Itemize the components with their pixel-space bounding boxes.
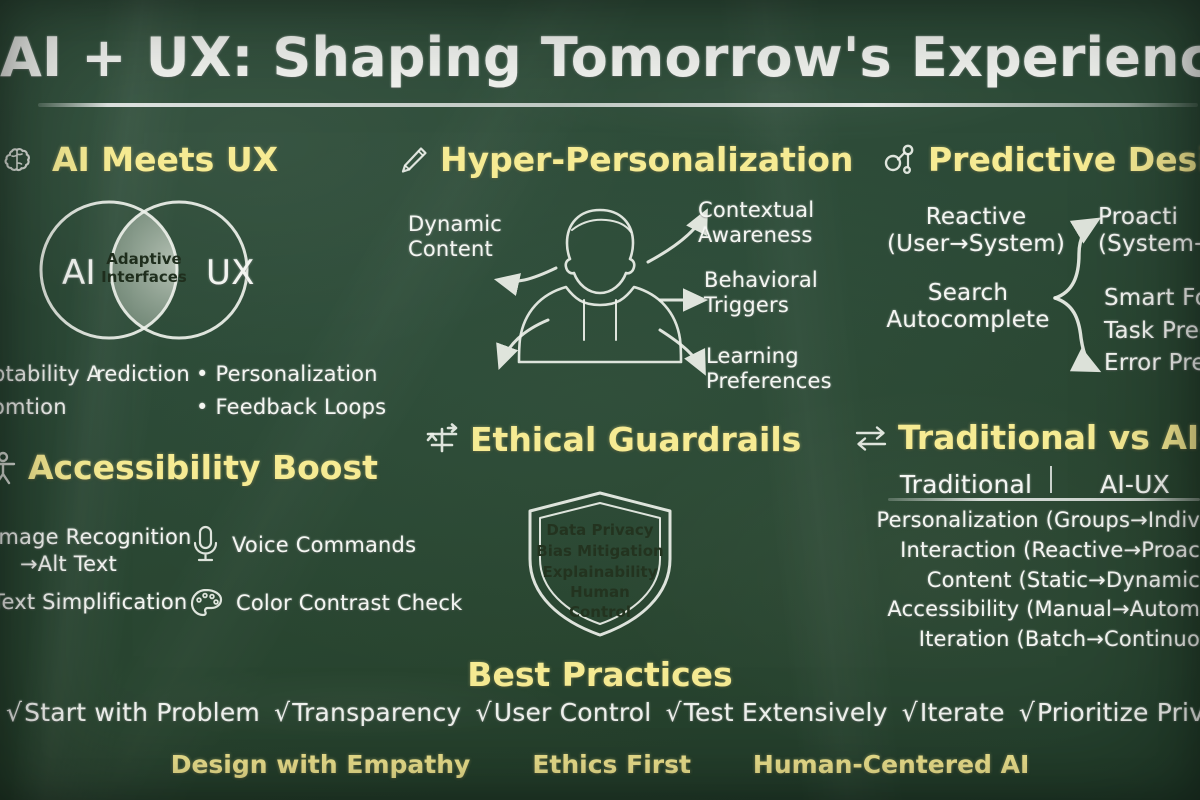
bullet-item: • Feedback Loops <box>196 391 386 424</box>
section-heading-best-practices: Best Practices <box>0 655 1200 694</box>
best-practices-checklist: √Start with Problem √Transparency √User … <box>0 698 1200 727</box>
table-row: Interaction (Reactive→Proac <box>0 536 1200 566</box>
check-icon: √ <box>666 698 682 727</box>
label-dynamic-content: Dynamic Content <box>408 212 502 262</box>
table-row: Personalization (Groups→Indiv <box>0 506 1200 536</box>
venn-diagram: AI UX Adaptive Interfaces <box>14 190 294 350</box>
bullet-item: ptability A <box>0 358 101 391</box>
label-learning-preferences: Learning Preferences <box>706 344 832 394</box>
tag-item: Ethics First <box>532 750 691 779</box>
comparison-table-rule <box>888 498 1200 501</box>
section-title-text: Hyper-Personalization <box>440 140 853 179</box>
label-contextual-awareness: Contextual Awareness <box>698 198 814 248</box>
ai-bullets-mid: rediction <box>96 358 190 391</box>
section-heading-ai-meets-ux: AI Meets UX <box>4 140 278 179</box>
column-header-traditional: Traditional <box>890 470 1042 499</box>
label-line: Awareness <box>698 223 814 248</box>
label-line: Dynamic <box>408 212 502 237</box>
label-line: Behavioral <box>704 268 818 293</box>
best-practices-tags: Design with Empathy Ethics First Human-C… <box>0 750 1200 779</box>
chalkboard-infographic: AI + UX: Shaping Tomorrow's Experiences … <box>0 0 1200 800</box>
section-heading-traditional-vs-ai-ux: Traditional vs AI- <box>854 418 1200 457</box>
predictive-search-autocomplete: Search Autocomplete <box>878 280 1058 334</box>
label-line: Content <box>408 237 502 262</box>
bullet-item: omtion <box>0 391 101 424</box>
section-heading-ethical-guardrails: Ethical Guardrails <box>424 420 801 459</box>
section-title-text: Accessibility Boost <box>28 448 378 487</box>
check-icon: √ <box>6 698 22 727</box>
label-line: Autocomplete <box>878 307 1058 334</box>
label-line: Preferences <box>706 369 832 394</box>
label-line: (System→ <box>1098 231 1200 258</box>
label-line: (User→System) <box>886 231 1066 258</box>
best-practice-item: Start with Problem <box>24 698 260 727</box>
brain-icon <box>4 143 42 177</box>
accessibility-icon <box>0 451 18 485</box>
column-divider <box>1050 466 1052 493</box>
arrow-reactive-to-error-prevention <box>1055 298 1097 370</box>
label-line: Search <box>878 280 1058 307</box>
section-heading-predictive-design: Predictive Desig <box>884 140 1200 179</box>
best-practice-item: Transparency <box>292 698 461 727</box>
best-practice-item: User Control <box>494 698 652 727</box>
page-title: AI + UX: Shaping Tomorrow's Experiences <box>0 26 1200 89</box>
balance-scale-icon <box>424 423 460 457</box>
title-underline <box>38 103 1198 107</box>
label-line: Error Prev <box>1104 347 1200 380</box>
label-line: Learning <box>706 344 832 369</box>
arrow-to-dynamic-content <box>498 268 556 282</box>
predictive-proactive: Proacti (System→ <box>1098 204 1200 258</box>
check-icon: √ <box>902 698 918 727</box>
bullet-item: • Personalization <box>196 358 386 391</box>
predictive-reactive: Reactive (User→System) <box>886 204 1066 258</box>
best-practice-item: Iterate <box>920 698 1005 727</box>
label-line: Triggers <box>704 293 818 318</box>
table-row: Iteration (Batch→Continuo <box>0 625 1200 655</box>
label-behavioral-triggers: Behavioral Triggers <box>704 268 818 318</box>
section-title-text: Predictive Desig <box>928 140 1200 179</box>
ai-bullets-right: • Personalization • Feedback Loops <box>196 358 386 423</box>
table-row: Content (Static→Dynamic <box>0 566 1200 596</box>
arrow-to-learning-preferences-2 <box>660 330 704 372</box>
predictive-right-items: Smart Fo Task Predi Error Prev <box>1104 282 1200 380</box>
column-header-ai-ux: AI-UX <box>1060 470 1200 499</box>
venn-overlap-line2: Interfaces <box>101 268 187 286</box>
section-heading-hyper-personalization: Hyper-Personalization <box>398 140 853 179</box>
venn-label-ai: AI <box>62 253 96 293</box>
check-icon: √ <box>476 698 492 727</box>
bullet-item: rediction <box>96 358 190 391</box>
section-heading-accessibility-boost: Accessibility Boost <box>0 448 378 487</box>
ai-bullets-left: ptability A omtion <box>0 358 101 423</box>
table-row: Accessibility (Manual→Autom <box>0 595 1200 625</box>
tag-item: Design with Empathy <box>171 750 471 779</box>
tag-item: Human-Centered AI <box>753 750 1029 779</box>
exchange-arrows-icon <box>854 423 888 453</box>
node-graph-icon <box>884 143 918 177</box>
section-title-text: Ethical Guardrails <box>470 420 801 459</box>
pencil-icon <box>398 144 430 176</box>
comparison-table-rows: Personalization (Groups→Indiv Interactio… <box>0 506 1200 655</box>
check-icon: √ <box>1019 698 1035 727</box>
label-line: Proacti <box>1098 204 1200 231</box>
check-icon: √ <box>274 698 290 727</box>
label-line: Smart Fo <box>1104 282 1200 315</box>
person-figure <box>519 210 681 362</box>
venn-label-ux: UX <box>206 253 255 293</box>
section-title-text: Traditional vs AI- <box>898 418 1200 457</box>
best-practice-item: Test Extensively <box>684 698 888 727</box>
label-line: Task Predi <box>1104 315 1200 348</box>
section-title-text: AI Meets UX <box>52 140 278 179</box>
label-line: Contextual <box>698 198 814 223</box>
best-practice-item: Prioritize Priva <box>1037 698 1200 727</box>
arrow-to-learning-preferences <box>500 320 548 366</box>
comparison-table-header: Traditional AI-UX <box>890 466 1200 499</box>
label-line: Reactive <box>886 204 1066 231</box>
venn-overlap-line1: Adaptive <box>106 250 181 268</box>
